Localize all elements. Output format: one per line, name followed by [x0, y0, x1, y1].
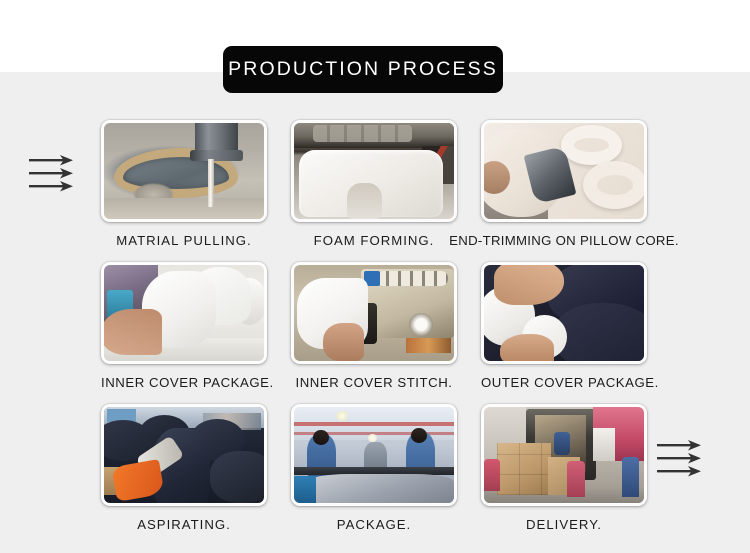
step-3-label: END-TRIMMING ON PILLOW CORE. [439, 233, 689, 248]
step-2-thumbnail-frame [291, 120, 457, 222]
step-6-label: OUTER COVER PACKAGE. [481, 375, 647, 390]
scissors-trimming-foam-pillow-core-image [484, 123, 644, 219]
step-5-label: INNER COVER STITCH. [291, 375, 457, 390]
step-2-label: FOAM FORMING. [291, 233, 457, 248]
hands-packaging-white-inner-covers-image [104, 265, 264, 361]
white-pillow-inserted-into-navy-outer-cover-image [484, 265, 644, 361]
sewing-machine-stitching-inner-cover-image [294, 265, 454, 361]
step-9-label: DELIVERY. [481, 517, 647, 532]
step-8-thumbnail-frame [291, 404, 457, 506]
step-1-label: MATRIAL PULLING. [101, 233, 267, 248]
process-row-3: ASPIRATING. [0, 404, 750, 546]
step-1-thumbnail-frame [101, 120, 267, 222]
process-step-1: MATRIAL PULLING. [101, 120, 267, 248]
process-row-1: MATRIAL PULLING. FOAM FORMING. [0, 120, 750, 262]
process-row-2: INNER COVER PACKAGE. [0, 262, 750, 404]
white-foam-in-mold-image [294, 123, 454, 219]
page-title-badge: PRODUCTION PROCESS [223, 46, 503, 93]
process-step-6: OUTER COVER PACKAGE. [481, 262, 647, 390]
step-6-thumbnail-frame [481, 262, 647, 364]
process-step-9: DELIVERY. [481, 404, 647, 532]
step-5-thumbnail-frame [291, 262, 457, 364]
production-process-banner: PRODUCTION PROCESS [0, 0, 750, 553]
process-step-3: END-TRIMMING ON PILLOW CORE. [481, 120, 647, 248]
process-step-8: PACKAGE. [291, 404, 457, 532]
process-step-5: INNER COVER STITCH. [291, 262, 457, 390]
page-title: PRODUCTION PROCESS [228, 58, 498, 81]
process-step-7: ASPIRATING. [101, 404, 267, 532]
step-9-thumbnail-frame [481, 404, 647, 506]
process-step-2: FOAM FORMING. [291, 120, 457, 248]
step-4-thumbnail-frame [101, 262, 267, 364]
step-4-label: INNER COVER PACKAGE. [101, 375, 267, 390]
process-steps-grid: MATRIAL PULLING. FOAM FORMING. [0, 120, 750, 546]
pile-of-navy-travel-pillows-with-vacuum-tool-image [104, 407, 264, 503]
workers-loading-cartons-into-container-truck-image [484, 407, 644, 503]
factory-workers-packaging-on-line-image [294, 407, 454, 503]
step-7-thumbnail-frame [101, 404, 267, 506]
step-8-label: PACKAGE. [291, 517, 457, 532]
cnc-machine-cutting-mold-image [104, 123, 264, 219]
step-7-label: ASPIRATING. [101, 517, 267, 532]
process-step-4: INNER COVER PACKAGE. [101, 262, 267, 390]
step-3-thumbnail-frame [481, 120, 647, 222]
